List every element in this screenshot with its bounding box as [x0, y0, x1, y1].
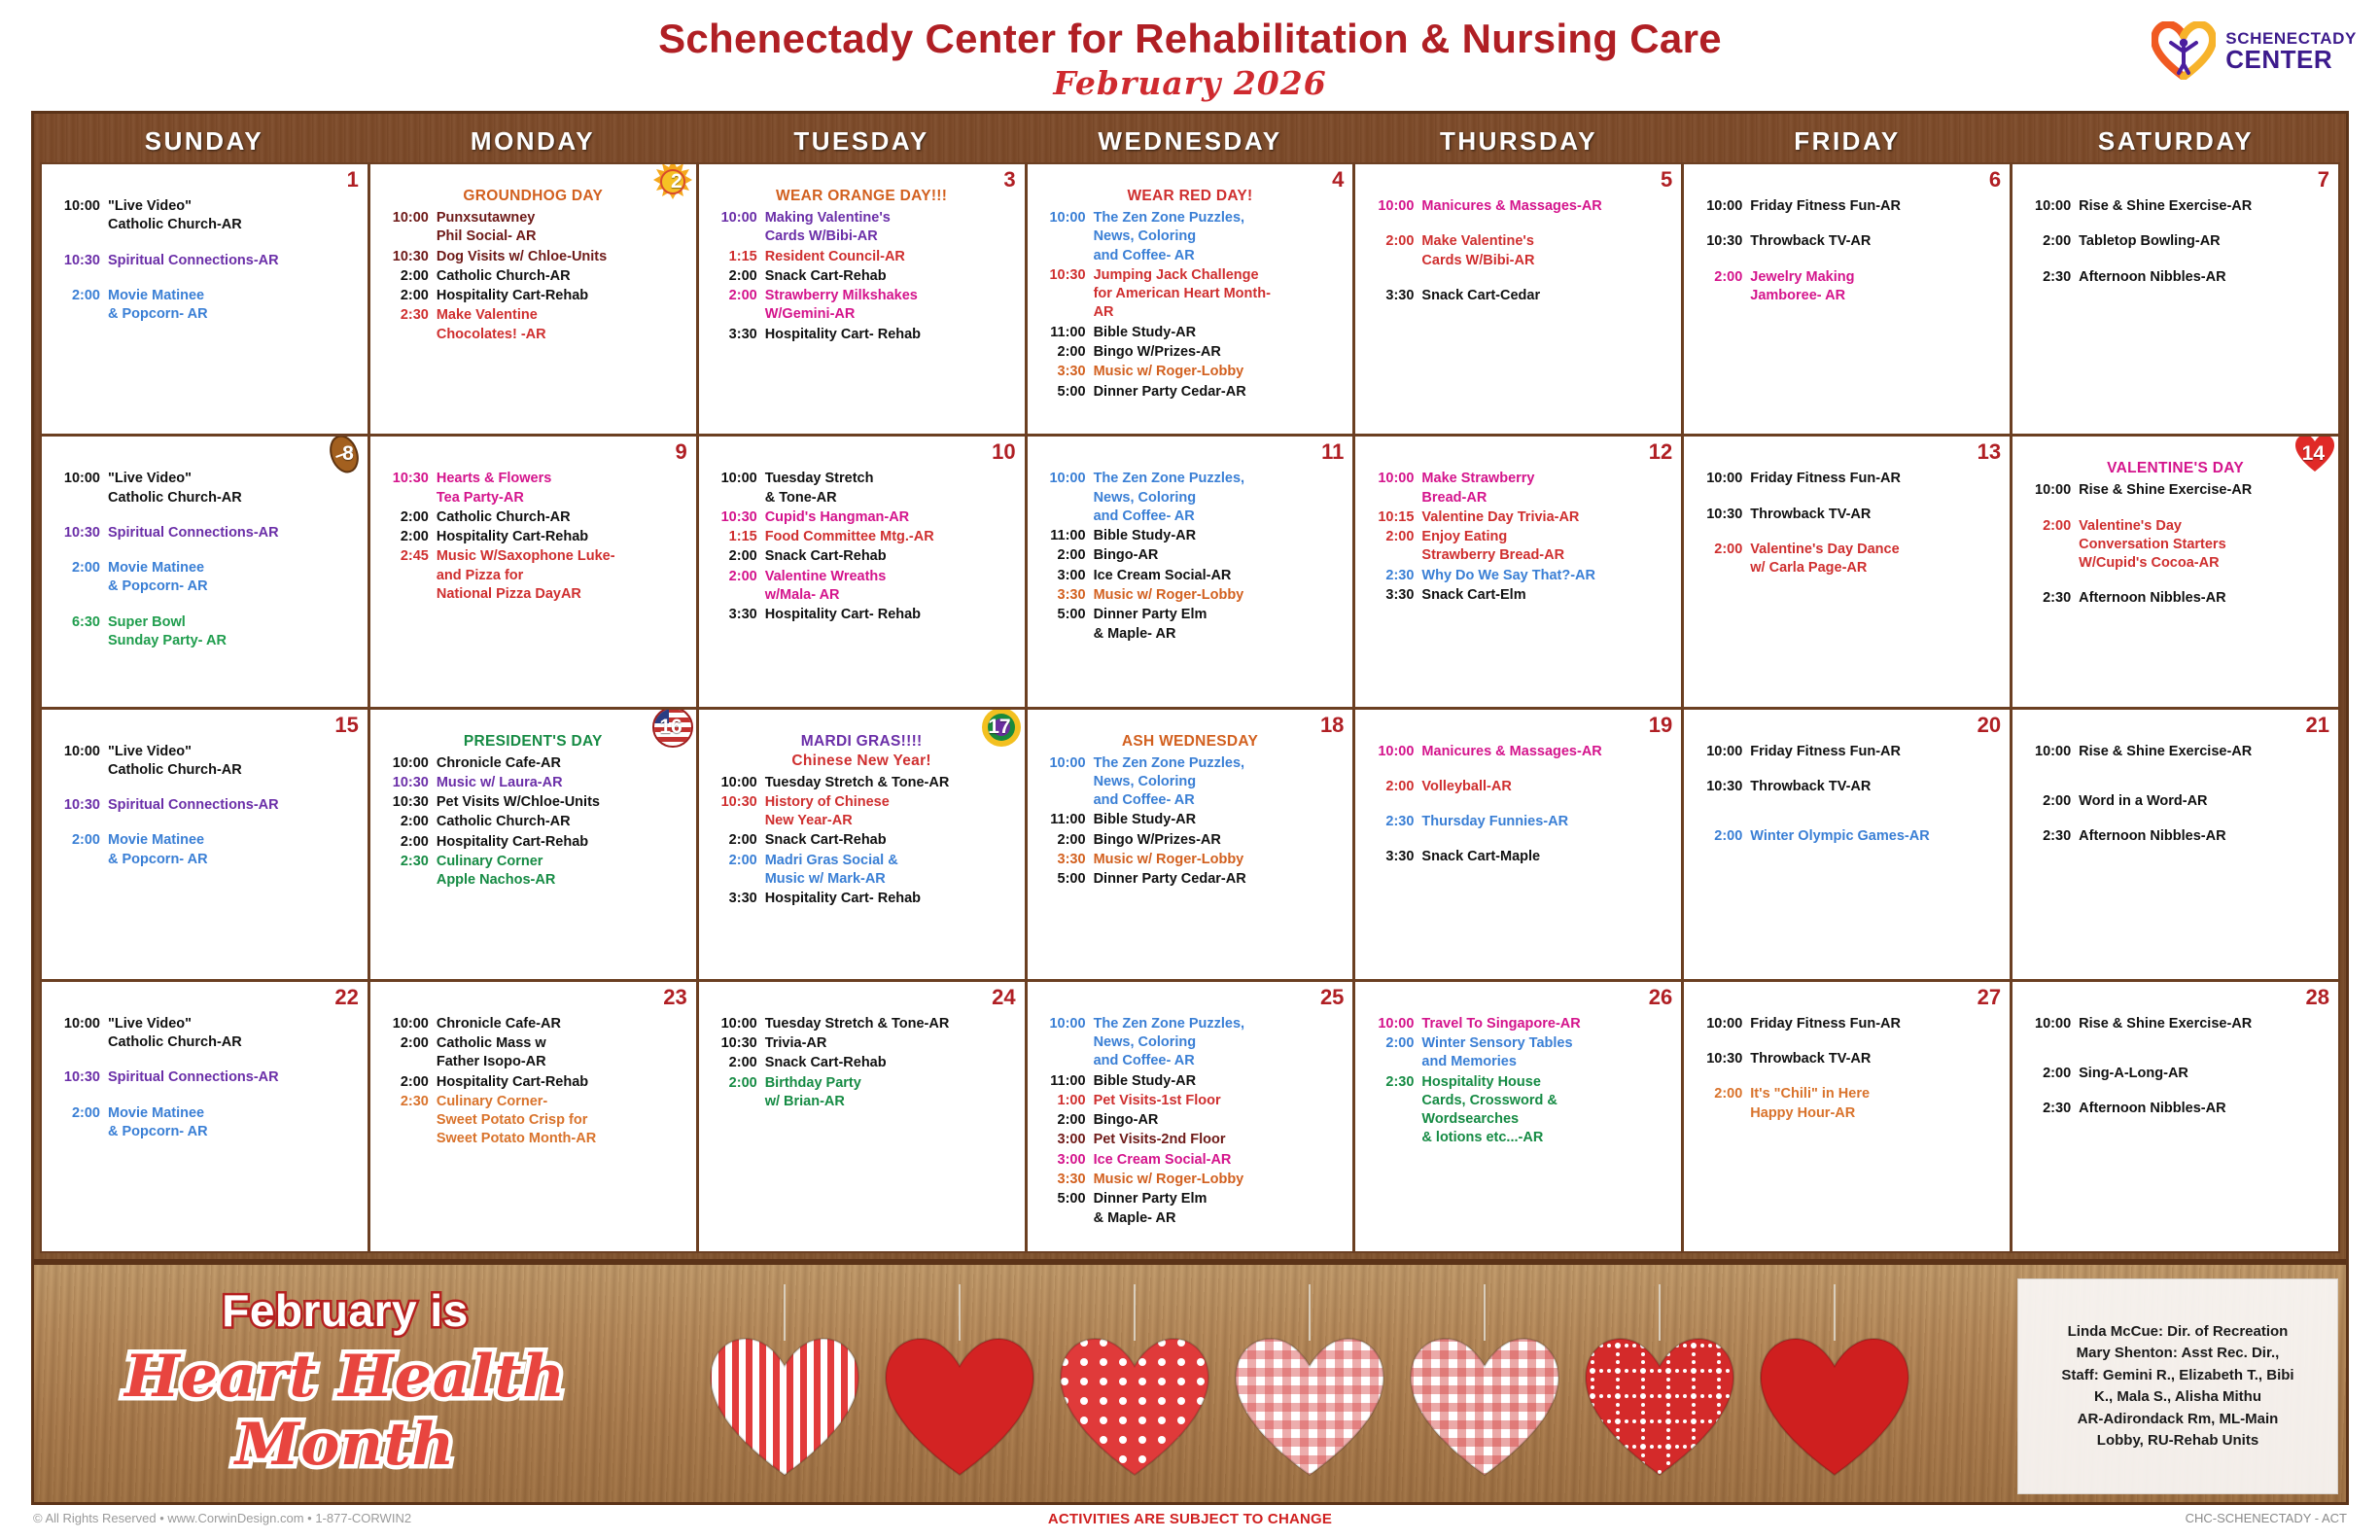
event-description: Tuesday Stretch& Tone-AR	[765, 470, 1017, 507]
day-cell-13[interactable]: 1310:00Friday Fitness Fun-AR10:30Throwba…	[1684, 437, 2010, 706]
event-item[interactable]: 10:00"Live Video"Catholic Church-AR	[50, 1015, 360, 1053]
event-time: 2:30	[378, 1093, 429, 1149]
page-header: Schenectady Center for Rehabilitation & …	[0, 0, 2380, 115]
event-item[interactable]: 2:00Hospitality Cart-Rehab	[378, 1073, 688, 1092]
event-item[interactable]: 10:00The Zen Zone Puzzles,News, Coloring…	[1035, 754, 1346, 811]
event-time: 2:00	[1692, 827, 1742, 846]
event-list: 10:30Hearts & FlowersTea Party-AR2:00Cat…	[378, 470, 688, 604]
event-item[interactable]: 10:00Manicures & Massages-AR	[1363, 743, 1673, 761]
event-time: 2:00	[1363, 1034, 1414, 1072]
event-item[interactable]: 3:30Music w/ Roger-Lobby	[1035, 363, 1346, 381]
doc-code: CHC-SCHENECTADY - ACT	[2186, 1511, 2347, 1525]
weekday-header-friday: FRIDAY	[1683, 120, 2012, 162]
event-list: 10:00Tuesday Stretch & Tone-AR10:30Trivi…	[707, 1015, 1017, 1111]
event-time: 2:00	[378, 508, 429, 527]
day-cell-18[interactable]: 18ASH WEDNESDAY10:00The Zen Zone Puzzles…	[1028, 710, 1353, 979]
day-number: 16	[659, 716, 682, 739]
event-list: 10:00Rise & Shine Exercise-AR2:00Sing-A-…	[2020, 1015, 2330, 1119]
event-time: 1:15	[707, 528, 757, 546]
event-description: Culinary Corner-Sweet Potato Crisp forSw…	[437, 1093, 688, 1149]
event-item[interactable]: 10:30Spiritual Connections-AR	[50, 1068, 360, 1087]
event-time: 11:00	[1035, 324, 1086, 342]
event-item[interactable]: 10:30Dog Visits w/ Chloe-Units	[378, 248, 688, 266]
hanging-heart	[1405, 1284, 1564, 1503]
event-item[interactable]: 2:00Jewelry MakingJamboree- AR	[1692, 268, 2002, 306]
event-item[interactable]: 11:00Bible Study-AR	[1035, 324, 1346, 342]
event-item[interactable]: 2:00Hospitality Cart-Rehab	[378, 287, 688, 305]
event-time: 2:00	[50, 559, 100, 597]
event-item[interactable]: 3:30Hospitality Cart- Rehab	[707, 326, 1017, 344]
event-time: 2:00	[2020, 792, 2071, 811]
event-item[interactable]: 11:00Bible Study-AR	[1035, 1072, 1346, 1091]
event-description: Food Committee Mtg.-AR	[765, 528, 1017, 546]
holiday-label: PRESIDENT'S DAY	[378, 733, 688, 751]
event-description: The Zen Zone Puzzles,News, Coloringand C…	[1094, 754, 1346, 811]
event-time: 2:30	[2020, 1100, 2071, 1118]
event-description: Tuesday Stretch & Tone-AR	[765, 774, 1017, 792]
event-time: 2:00	[1363, 778, 1414, 796]
event-time: 3:00	[1035, 1131, 1086, 1149]
day-cell-3[interactable]: 3WEAR ORANGE DAY!!!10:00Making Valentine…	[699, 164, 1025, 434]
event-item[interactable]: 2:00Catholic Mass wFather Isopo-AR	[378, 1034, 688, 1072]
event-item[interactable]: 2:00Snack Cart-Rehab	[707, 267, 1017, 286]
day-number: 28	[2306, 985, 2329, 1010]
event-description: Bingo W/Prizes-AR	[1094, 831, 1346, 850]
event-item[interactable]: 2:00Bingo-AR	[1035, 1111, 1346, 1130]
event-item[interactable]: 10:00Travel To Singapore-AR	[1363, 1015, 1673, 1033]
event-item[interactable]: 10:30Music w/ Laura-AR	[378, 774, 688, 792]
event-item[interactable]: 10:00Make StrawberryBread-AR	[1363, 470, 1673, 507]
event-item[interactable]: 10:30Spiritual Connections-AR	[50, 796, 360, 815]
event-item[interactable]: 2:00Birthday Partyw/ Brian-AR	[707, 1074, 1017, 1112]
event-time: 2:00	[1692, 268, 1742, 306]
event-item[interactable]: 10:30Jumping Jack Challengefor American …	[1035, 266, 1346, 323]
event-item[interactable]: 3:30Music w/ Roger-Lobby	[1035, 586, 1346, 605]
event-description: Spiritual Connections-AR	[108, 252, 360, 270]
event-item[interactable]: 2:00Catholic Church-AR	[378, 267, 688, 286]
event-item[interactable]: 5:00Dinner Party Cedar-AR	[1035, 870, 1346, 889]
event-time: 10:00	[707, 209, 757, 247]
day-cell-8[interactable]: 810:00"Live Video"Catholic Church-AR10:3…	[42, 437, 367, 706]
event-description: Rise & Shine Exercise-AR	[2079, 743, 2330, 761]
day-cell-22[interactable]: 2210:00"Live Video"Catholic Church-AR10:…	[42, 982, 367, 1251]
logo-line1: SCHENECTADY	[2225, 30, 2357, 47]
event-item[interactable]: 2:30Thursday Funnies-AR	[1363, 813, 1673, 831]
event-item[interactable]: 3:30Snack Cart-Maple	[1363, 848, 1673, 866]
event-time: 2:00	[1035, 831, 1086, 850]
event-item[interactable]: 2:30Afternoon Nibbles-AR	[2020, 268, 2330, 287]
event-time: 2:00	[1035, 343, 1086, 362]
event-description: Valentine's Day Dancew/ Carla Page-AR	[1750, 541, 2002, 578]
event-item[interactable]: 10:00Friday Fitness Fun-AR	[1692, 470, 2002, 488]
event-item[interactable]: 10:00Rise & Shine Exercise-AR	[2020, 481, 2330, 500]
day-cell-6[interactable]: 610:00Friday Fitness Fun-AR10:30Throwbac…	[1684, 164, 2010, 434]
event-description: Throwback TV-AR	[1750, 232, 2002, 251]
day-number: 20	[1977, 713, 2001, 738]
event-item[interactable]: 10:00Rise & Shine Exercise-AR	[2020, 743, 2330, 761]
event-time: 10:00	[378, 209, 429, 247]
event-item[interactable]: 2:00Snack Cart-Rehab	[707, 547, 1017, 566]
hanging-heart	[1230, 1284, 1389, 1503]
event-item[interactable]: 2:00Bingo-AR	[1035, 546, 1346, 565]
event-item[interactable]: 2:30Hospitality HouseCards, Crossword &W…	[1363, 1073, 1673, 1148]
event-time: 10:00	[1692, 470, 1742, 488]
event-time: 10:00	[1692, 743, 1742, 761]
event-item[interactable]: 10:00Tuesday Stretch & Tone-AR	[707, 774, 1017, 792]
day-number: 14	[2302, 442, 2325, 466]
day-number: 22	[334, 985, 358, 1010]
event-description: Thursday Funnies-AR	[1421, 813, 1673, 831]
day-number: 25	[1320, 985, 1344, 1010]
event-item[interactable]: 10:00Friday Fitness Fun-AR	[1692, 743, 2002, 761]
day-number: 10	[992, 439, 1015, 465]
calendar-week-row: 2210:00"Live Video"Catholic Church-AR10:…	[42, 982, 2338, 1251]
event-item[interactable]: 10:00"Live Video"Catholic Church-AR	[50, 470, 360, 507]
event-item[interactable]: 2:00Enjoy EatingStrawberry Bread-AR	[1363, 528, 1673, 566]
day-cell-4[interactable]: 4WEAR RED DAY!10:00The Zen Zone Puzzles,…	[1028, 164, 1353, 434]
event-list: 10:00Rise & Shine Exercise-AR2:00Word in…	[2020, 743, 2330, 847]
event-list: 10:00Chronicle Cafe-AR10:30Music w/ Laur…	[378, 754, 688, 891]
event-item[interactable]: 10:00Rise & Shine Exercise-AR	[2020, 1015, 2330, 1033]
event-item[interactable]: 10:00Making Valentine'sCards W/Bibi-AR	[707, 209, 1017, 247]
event-description: Winter Olympic Games-AR	[1750, 827, 2002, 846]
event-list: 10:00Friday Fitness Fun-AR10:30Throwback…	[1692, 470, 2002, 577]
event-item[interactable]: 10:30History of ChineseNew Year-AR	[707, 793, 1017, 831]
event-item[interactable]: 2:30Culinary CornerApple Nachos-AR	[378, 853, 688, 891]
event-description: Valentine Wreathsw/Mala- AR	[765, 568, 1017, 606]
event-item[interactable]: 3:30Snack Cart-Elm	[1363, 586, 1673, 605]
event-item[interactable]: 2:00Catholic Church-AR	[378, 813, 688, 831]
event-item[interactable]: 3:30Hospitality Cart- Rehab	[707, 890, 1017, 908]
event-item[interactable]: 2:00Make Valentine'sCards W/Bibi-AR	[1363, 232, 1673, 270]
event-time: 2:30	[2020, 589, 2071, 608]
event-item[interactable]: 2:00Sing-A-Long-AR	[2020, 1065, 2330, 1083]
event-item[interactable]: 11:00Bible Study-AR	[1035, 527, 1346, 545]
event-item[interactable]: 10:30Throwback TV-AR	[1692, 778, 2002, 796]
day-cell-1[interactable]: 110:00"Live Video"Catholic Church-AR10:3…	[42, 164, 367, 434]
heart-shape-icon	[1580, 1333, 1739, 1479]
event-item[interactable]: 2:00Valentine Wreathsw/Mala- AR	[707, 568, 1017, 606]
day-number: 3	[1003, 167, 1015, 192]
event-description: History of ChineseNew Year-AR	[765, 793, 1017, 831]
event-item[interactable]: 2:00Word in a Word-AR	[2020, 792, 2330, 811]
event-item[interactable]: 10:00Friday Fitness Fun-AR	[1692, 197, 2002, 216]
event-item[interactable]: 10:00Tuesday Stretch & Tone-AR	[707, 1015, 1017, 1033]
event-item[interactable]: 11:00Bible Study-AR	[1035, 811, 1346, 829]
event-description: Hospitality Cart-Rehab	[437, 528, 688, 546]
event-item[interactable]: 2:00Hospitality Cart-Rehab	[378, 833, 688, 852]
event-item[interactable]: 1:15Resident Council-AR	[707, 248, 1017, 266]
event-item[interactable]: 1:00Pet Visits-1st Floor	[1035, 1092, 1346, 1110]
day-cell-14[interactable]: 14VALENTINE'S DAY10:00Rise & Shine Exerc…	[2012, 437, 2338, 706]
event-item[interactable]: 2:00Movie Matinee& Popcorn- AR	[50, 287, 360, 325]
event-description: Ice Cream Social-AR	[1094, 567, 1346, 585]
event-time: 2:00	[2020, 232, 2071, 251]
event-item[interactable]: 2:00Strawberry MilkshakesW/Gemini-AR	[707, 287, 1017, 325]
event-description: Valentine's DayConversation StartersW/Cu…	[2079, 517, 2330, 574]
event-description: Trivia-AR	[765, 1034, 1017, 1053]
event-item[interactable]: 10:00Manicures & Massages-AR	[1363, 197, 1673, 216]
event-description: Strawberry MilkshakesW/Gemini-AR	[765, 287, 1017, 325]
event-item[interactable]: 2:00Tabletop Bowling-AR	[2020, 232, 2330, 251]
event-item[interactable]: 10:00"Live Video"Catholic Church-AR	[50, 743, 360, 781]
event-item[interactable]: 2:00Valentine's DayConversation Starters…	[2020, 517, 2330, 574]
page-footer: © All Rights Reserved • www.CorwinDesign…	[0, 1509, 2380, 1538]
event-item[interactable]: 2:00Winter Olympic Games-AR	[1692, 827, 2002, 846]
event-item[interactable]: 2:00Movie Matinee& Popcorn- AR	[50, 559, 360, 597]
event-item[interactable]: 1:15Food Committee Mtg.-AR	[707, 528, 1017, 546]
event-list: 10:00Rise & Shine Exercise-AR2:00Valenti…	[2020, 481, 2330, 608]
event-time: 10:00	[707, 1015, 757, 1033]
event-description: Making Valentine'sCards W/Bibi-AR	[765, 209, 1017, 247]
heart-shape-icon	[705, 1333, 864, 1479]
day-number: 23	[663, 985, 686, 1010]
event-item[interactable]: 3:30Hospitality Cart- Rehab	[707, 606, 1017, 624]
event-description: Catholic Church-AR	[437, 267, 688, 286]
event-item[interactable]: 2:00Movie Matinee& Popcorn- AR	[50, 831, 360, 869]
event-description: Hospitality Cart- Rehab	[765, 326, 1017, 344]
event-item[interactable]: 10:00Chronicle Cafe-AR	[378, 754, 688, 773]
event-item[interactable]: 2:30Afternoon Nibbles-AR	[2020, 827, 2330, 846]
hanging-heart	[1755, 1284, 1914, 1503]
day-cell-19[interactable]: 1910:00Manicures & Massages-AR2:00Volley…	[1355, 710, 1681, 979]
event-time: 2:00	[378, 528, 429, 546]
day-cell-2[interactable]: 2GROUNDHOG DAY10:00PunxsutawneyPhil Soci…	[370, 164, 696, 434]
day-number: 26	[1649, 985, 1672, 1010]
event-description: Music W/Saxophone Luke-and Pizza forNati…	[437, 547, 688, 604]
day-cell-16[interactable]: 16PRESIDENT'S DAY10:00Chronicle Cafe-AR1…	[370, 710, 696, 979]
logo-wordmark: SCHENECTADY CENTER	[2225, 30, 2357, 72]
event-list: 10:00"Live Video"Catholic Church-AR10:30…	[50, 197, 360, 324]
event-description: Friday Fitness Fun-AR	[1750, 743, 2002, 761]
event-time: 10:30	[378, 248, 429, 266]
event-item[interactable]: 2:00Movie Matinee& Popcorn- AR	[50, 1104, 360, 1142]
event-description: Bible Study-AR	[1094, 1072, 1346, 1091]
event-description: Snack Cart-Maple	[1421, 848, 1673, 866]
event-item[interactable]: 3:00Pet Visits-2nd Floor	[1035, 1131, 1346, 1149]
event-description: Music w/ Roger-Lobby	[1094, 586, 1346, 605]
event-time: 10:00	[707, 774, 757, 792]
event-time: 2:00	[1692, 541, 1742, 578]
event-item[interactable]: 10:00PunxsutawneyPhil Social- AR	[378, 209, 688, 247]
event-item[interactable]: 3:30Music w/ Roger-Lobby	[1035, 1171, 1346, 1189]
event-time: 10:30	[378, 774, 429, 792]
event-item[interactable]: 2:30Afternoon Nibbles-AR	[2020, 1100, 2330, 1118]
event-item[interactable]: 5:00Dinner Party Elm& Maple- AR	[1035, 606, 1346, 644]
day-cell-21[interactable]: 2110:00Rise & Shine Exercise-AR2:00Word …	[2012, 710, 2338, 979]
event-item[interactable]: 2:00Volleyball-AR	[1363, 778, 1673, 796]
event-time: 3:30	[1035, 1171, 1086, 1189]
event-item[interactable]: 2:00It's "Chili" in HereHappy Hour-AR	[1692, 1085, 2002, 1123]
event-description: Dinner Party Cedar-AR	[1094, 870, 1346, 889]
event-description: Friday Fitness Fun-AR	[1750, 1015, 2002, 1033]
event-time: 2:00	[2020, 1065, 2071, 1083]
event-item[interactable]: 2:00Snack Cart-Rehab	[707, 1054, 1017, 1072]
event-description: Why Do We Say That?-AR	[1421, 567, 1673, 585]
event-description: Catholic Mass wFather Isopo-AR	[437, 1034, 688, 1072]
event-time: 2:00	[378, 813, 429, 831]
event-item[interactable]: 10:30Spiritual Connections-AR	[50, 252, 360, 270]
event-description: Hospitality Cart-Rehab	[437, 287, 688, 305]
day-cell-20[interactable]: 2010:00Friday Fitness Fun-AR10:30Throwba…	[1684, 710, 2010, 979]
event-description: Snack Cart-Rehab	[765, 547, 1017, 566]
title-block: Schenectady Center for Rehabilitation & …	[0, 17, 2380, 102]
heart-shape-icon	[1755, 1333, 1914, 1479]
event-item[interactable]: 10:30Throwback TV-AR	[1692, 1050, 2002, 1068]
event-description: Manicures & Massages-AR	[1421, 743, 1673, 761]
event-item[interactable]: 2:30Make ValentineChocolates! -AR	[378, 306, 688, 344]
day-cell-15[interactable]: 1510:00"Live Video"Catholic Church-AR10:…	[42, 710, 367, 979]
event-item[interactable]: 2:00Bingo W/Prizes-AR	[1035, 831, 1346, 850]
event-time: 3:00	[1035, 1151, 1086, 1170]
day-cell-11[interactable]: 1110:00The Zen Zone Puzzles,News, Colori…	[1028, 437, 1353, 706]
hanging-heart	[1580, 1284, 1739, 1503]
event-time: 10:00	[1035, 754, 1086, 811]
event-time: 2:00	[378, 833, 429, 852]
event-list: 10:00PunxsutawneyPhil Social- AR10:30Dog…	[378, 209, 688, 344]
day-number: 2	[671, 170, 682, 193]
event-time: 1:00	[1035, 1092, 1086, 1110]
day-number: 7	[2318, 167, 2329, 192]
event-time: 5:00	[1035, 1190, 1086, 1228]
day-number: 8	[342, 442, 354, 466]
event-item[interactable]: 10:00Friday Fitness Fun-AR	[1692, 1015, 2002, 1033]
day-number: 1	[347, 167, 359, 192]
day-number: 24	[992, 985, 1015, 1010]
event-description: "Live Video"Catholic Church-AR	[108, 743, 360, 781]
event-time: 10:00	[1035, 209, 1086, 265]
event-item[interactable]: 5:00Dinner Party Cedar-AR	[1035, 383, 1346, 402]
event-description: Bingo-AR	[1094, 1111, 1346, 1130]
event-description: "Live Video"Catholic Church-AR	[108, 197, 360, 235]
event-description: Tabletop Bowling-AR	[2079, 232, 2330, 251]
event-item[interactable]: 10:00Rise & Shine Exercise-AR	[2020, 197, 2330, 216]
event-time: 2:00	[707, 852, 757, 890]
event-description: Valentine Day Trivia-AR	[1421, 508, 1673, 527]
event-time: 10:00	[378, 1015, 429, 1033]
day-number: 15	[334, 713, 358, 738]
holiday-label: VALENTINE'S DAY	[2020, 460, 2330, 477]
day-cell-10[interactable]: 1010:00Tuesday Stretch& Tone-AR10:30Cupi…	[699, 437, 1025, 706]
day-number: 6	[1989, 167, 2001, 192]
event-time: 2:00	[707, 831, 757, 850]
event-list: 10:00Make StrawberryBread-AR10:15Valenti…	[1363, 470, 1673, 605]
event-item[interactable]: 10:30Trivia-AR	[707, 1034, 1017, 1053]
event-description: Hospitality Cart- Rehab	[765, 606, 1017, 624]
event-item[interactable]: 2:00Bingo W/Prizes-AR	[1035, 343, 1346, 362]
event-time: 10:30	[378, 793, 429, 812]
event-item[interactable]: 3:00Ice Cream Social-AR	[1035, 1151, 1346, 1170]
holiday-label: WEAR ORANGE DAY!!!	[707, 188, 1017, 205]
event-item[interactable]: 3:00Ice Cream Social-AR	[1035, 567, 1346, 585]
event-time: 2:00	[378, 267, 429, 286]
day-cell-7[interactable]: 710:00Rise & Shine Exercise-AR2:00Tablet…	[2012, 164, 2338, 434]
event-list: 10:00The Zen Zone Puzzles,News, Coloring…	[1035, 1015, 1346, 1228]
event-description: Friday Fitness Fun-AR	[1750, 197, 2002, 216]
event-description: Afternoon Nibbles-AR	[2079, 1100, 2330, 1118]
day-cell-23[interactable]: 2310:00Chronicle Cafe-AR2:00Catholic Mas…	[370, 982, 696, 1251]
hanging-heart	[880, 1284, 1039, 1503]
event-item[interactable]: 2:00Winter Sensory Tablesand Memories	[1363, 1034, 1673, 1072]
event-time: 6:30	[50, 613, 100, 651]
day-cell-27[interactable]: 2710:00Friday Fitness Fun-AR10:30Throwba…	[1684, 982, 2010, 1251]
event-item[interactable]: 2:45Music W/Saxophone Luke-and Pizza for…	[378, 547, 688, 604]
event-time: 2:45	[378, 547, 429, 604]
day-number: 21	[2306, 713, 2329, 738]
event-description: Movie Matinee& Popcorn- AR	[108, 559, 360, 597]
event-item[interactable]: 10:30Spiritual Connections-AR	[50, 524, 360, 542]
event-time: 10:00	[50, 197, 100, 235]
event-item[interactable]: 10:30Hearts & FlowersTea Party-AR	[378, 470, 688, 507]
event-time: 10:30	[1692, 1050, 1742, 1068]
day-cell-5[interactable]: 510:00Manicures & Massages-AR2:00Make Va…	[1355, 164, 1681, 434]
event-item[interactable]: 10:30Cupid's Hangman-AR	[707, 508, 1017, 527]
event-item[interactable]: 5:00Dinner Party Elm& Maple- AR	[1035, 1190, 1346, 1228]
event-time: 5:00	[1035, 606, 1086, 644]
event-list: 10:00Friday Fitness Fun-AR10:30Throwback…	[1692, 1015, 2002, 1123]
event-item[interactable]: 10:00Chronicle Cafe-AR	[378, 1015, 688, 1033]
event-item[interactable]: 10:00Tuesday Stretch& Tone-AR	[707, 470, 1017, 507]
event-item[interactable]: 10:15Valentine Day Trivia-AR	[1363, 508, 1673, 527]
event-description: Make ValentineChocolates! -AR	[437, 306, 688, 344]
event-item[interactable]: 10:00The Zen Zone Puzzles,News, Coloring…	[1035, 1015, 1346, 1071]
event-time: 2:00	[2020, 517, 2071, 574]
event-item[interactable]: 10:00The Zen Zone Puzzles,News, Coloring…	[1035, 470, 1346, 526]
event-time: 3:30	[1035, 851, 1086, 869]
event-item[interactable]: 2:30Culinary Corner-Sweet Potato Crisp f…	[378, 1093, 688, 1149]
day-cell-12[interactable]: 1210:00Make StrawberryBread-AR10:15Valen…	[1355, 437, 1681, 706]
event-item[interactable]: 6:30Super BowlSunday Party- AR	[50, 613, 360, 651]
event-list: 10:00Making Valentine'sCards W/Bibi-AR1:…	[707, 209, 1017, 344]
banner-line2: Heart Health Month	[73, 1343, 617, 1479]
event-description: Throwback TV-AR	[1750, 506, 2002, 524]
event-item[interactable]: 2:00Snack Cart-Rehab	[707, 831, 1017, 850]
event-item[interactable]: 10:00The Zen Zone Puzzles,News, Coloring…	[1035, 209, 1346, 265]
event-item[interactable]: 10:30Throwback TV-AR	[1692, 506, 2002, 524]
event-item[interactable]: 10:00"Live Video"Catholic Church-AR	[50, 197, 360, 235]
event-time: 10:00	[2020, 743, 2071, 761]
event-item[interactable]: 10:30Pet Visits W/Chloe-Units	[378, 793, 688, 812]
event-time: 3:30	[1363, 287, 1414, 305]
day-cell-26[interactable]: 2610:00Travel To Singapore-AR2:00Winter …	[1355, 982, 1681, 1251]
day-cell-17[interactable]: 17MARDI GRAS!!!!Chinese New Year!10:00Tu…	[699, 710, 1025, 979]
event-item[interactable]: 2:00Valentine's Day Dancew/ Carla Page-A…	[1692, 541, 2002, 578]
event-time: 2:00	[378, 1034, 429, 1072]
day-cell-25[interactable]: 2510:00The Zen Zone Puzzles,News, Colori…	[1028, 982, 1353, 1251]
day-cell-28[interactable]: 2810:00Rise & Shine Exercise-AR2:00Sing-…	[2012, 982, 2338, 1251]
calendar-week-row: 810:00"Live Video"Catholic Church-AR10:3…	[42, 437, 2338, 706]
holiday-label: WEAR RED DAY!	[1035, 188, 1346, 205]
day-cell-9[interactable]: 910:30Hearts & FlowersTea Party-AR2:00Ca…	[370, 437, 696, 706]
event-item[interactable]: 2:30Why Do We Say That?-AR	[1363, 567, 1673, 585]
event-time: 10:30	[707, 1034, 757, 1053]
day-cell-24[interactable]: 2410:00Tuesday Stretch & Tone-AR10:30Tri…	[699, 982, 1025, 1251]
event-item[interactable]: 2:00Madri Gras Social &Music w/ Mark-AR	[707, 852, 1017, 890]
event-item[interactable]: 2:00Hospitality Cart-Rehab	[378, 528, 688, 546]
event-item[interactable]: 10:30Throwback TV-AR	[1692, 232, 2002, 251]
event-item[interactable]: 2:30Afternoon Nibbles-AR	[2020, 589, 2330, 608]
event-item[interactable]: 2:00Catholic Church-AR	[378, 508, 688, 527]
event-item[interactable]: 3:30Snack Cart-Cedar	[1363, 287, 1673, 305]
event-time: 2:30	[2020, 827, 2071, 846]
event-list: 10:00Friday Fitness Fun-AR10:30Throwback…	[1692, 197, 2002, 305]
event-item[interactable]: 3:30Music w/ Roger-Lobby	[1035, 851, 1346, 869]
event-description: Sing-A-Long-AR	[2079, 1065, 2330, 1083]
event-time: 2:00	[707, 267, 757, 286]
event-list: 10:00Rise & Shine Exercise-AR2:00Tableto…	[2020, 197, 2330, 287]
event-description: Madri Gras Social &Music w/ Mark-AR	[765, 852, 1017, 890]
event-time: 3:00	[1035, 567, 1086, 585]
